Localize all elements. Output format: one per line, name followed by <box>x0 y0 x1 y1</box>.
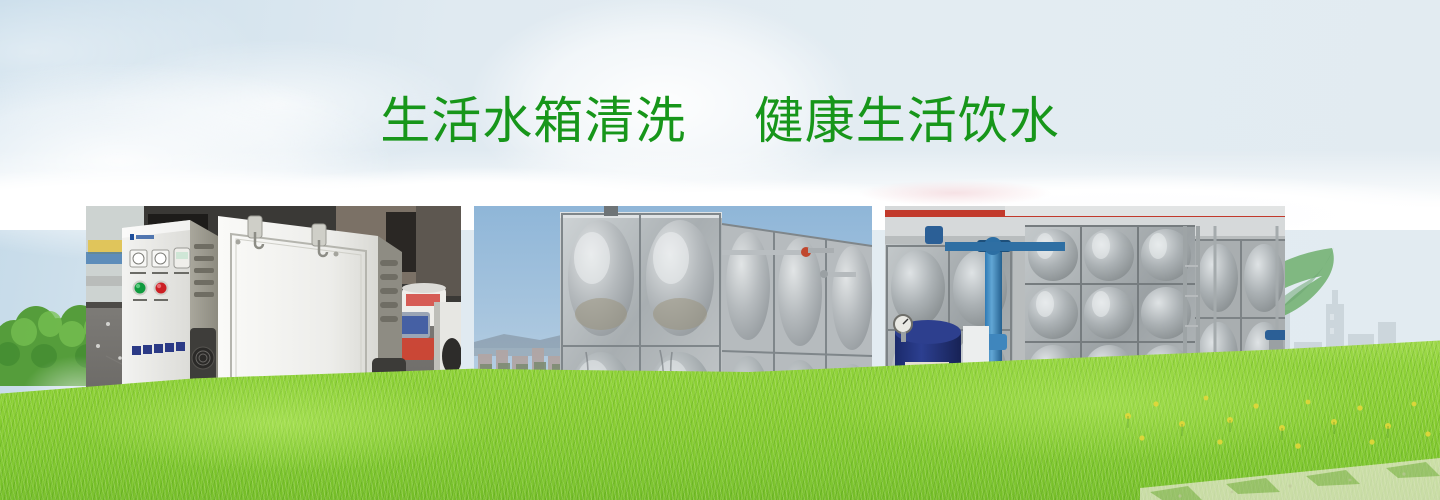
page-title: 生活水箱清洗 健康生活饮水 <box>0 92 1440 150</box>
promo-banner: 生活水箱清洗 健康生活饮水 <box>0 0 1440 500</box>
gravel-path <box>1140 440 1440 500</box>
cloud-tint <box>835 176 1075 210</box>
